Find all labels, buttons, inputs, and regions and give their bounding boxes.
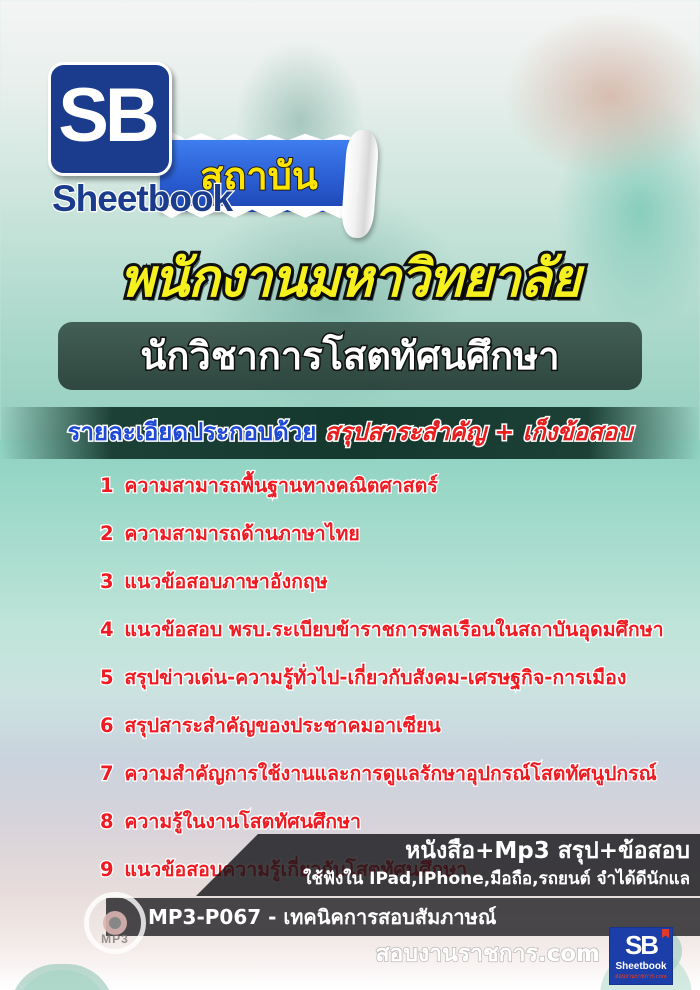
promo-headline: หนังสือ+Mp3 สรุป+ข้อสอบ: [246, 836, 690, 866]
details-line: รายละเอียดประกอบด้วย สรุปสาระสำคัญ + เก็…: [0, 412, 700, 452]
site-url[interactable]: สอบงานราชการ.com: [300, 938, 600, 970]
list-item-number: 3: [100, 570, 114, 593]
mp3-disc-icon: MP3: [78, 892, 156, 954]
list-item-number: 5: [100, 666, 114, 689]
list-item: 3 แนวข้อสอบภาษาอังกฤษ: [100, 566, 680, 597]
footer-logo-subtitle: สอบงานราชการ.com: [610, 972, 672, 982]
list-item: 2 ความสามารถด้านภาษาไทย: [100, 518, 680, 549]
poster-root: สถาบัน SB Sheetbook พนักงานมหาวิทยาลัย น…: [0, 0, 700, 990]
list-item-label: สรุปสาระสำคัญของประชาคมอาเซียน: [124, 714, 440, 737]
list-item-number: 9: [100, 858, 114, 881]
details-highlight: สรุปสาระสำคัญ + เก็งข้อสอบ: [325, 418, 633, 446]
list-item: 6 สรุปสาระสำคัญของประชาคมอาเซียน: [100, 710, 680, 741]
list-item-label: ความสามารถพื้นฐานทางคณิตศาสตร์: [124, 474, 437, 497]
list-item: 8 ความรู้ในงานโสตทัศนศึกษา: [100, 806, 680, 837]
list-item-number: 6: [100, 714, 114, 737]
list-item: 5 สรุปข่าวเด่น-ความรู้ทั่วไป-เกี่ยวกับสั…: [100, 662, 680, 693]
product-code-label: MP3-P067 - เทคนิคการสอบสัมภาษณ์: [148, 900, 496, 934]
brand-logo[interactable]: สถาบัน SB Sheetbook: [48, 62, 398, 222]
list-item-number: 7: [100, 762, 114, 785]
page-subtitle: นักวิชาการโสตทัศนศึกษา: [58, 324, 642, 388]
list-item-label: ความสำคัญการใช้งานและการดูแลรักษาอุปกรณ์…: [124, 762, 656, 785]
promo-subline: ใช้ฟังใน IPad,IPhone,มือถือ,รถยนต์ จำได้…: [216, 866, 690, 892]
list-item-number: 4: [100, 618, 114, 641]
list-item-label: สรุปข่าวเด่น-ความรู้ทั่วไป-เกี่ยวกับสังค…: [124, 666, 626, 689]
list-item: 4 แนวข้อสอบ พรบ.ระเบียบข้าราชการพลเรือนใ…: [100, 614, 680, 645]
mp3-disc-label: MP3: [78, 932, 152, 946]
list-item-label: ความรู้ในงานโสตทัศนศึกษา: [124, 810, 361, 833]
list-item-number: 8: [100, 810, 114, 833]
footer-logo-monogram: SB: [610, 930, 672, 960]
page-title: พนักงานมหาวิทยาลัย: [0, 236, 700, 319]
brand-monogram-label: SB: [48, 62, 166, 170]
list-item: 1 ความสามารถพื้นฐานทางคณิตศาสตร์: [100, 470, 680, 501]
brand-wordmark: Sheetbook: [52, 178, 232, 220]
list-item-label: ความสามารถด้านภาษาไทย: [124, 522, 359, 545]
list-item-number: 2: [100, 522, 114, 545]
list-item-label: แนวข้อสอบ พรบ.ระเบียบข้าราชการพลเรือนในส…: [124, 618, 663, 641]
details-prefix: รายละเอียดประกอบด้วย: [68, 418, 317, 446]
list-item-label: แนวข้อสอบภาษาอังกฤษ: [124, 570, 327, 593]
list-item: 7 ความสำคัญการใช้งานและการดูแลรักษาอุปกร…: [100, 758, 680, 789]
footer-brand-logo[interactable]: SB Sheetbook สอบงานราชการ.com: [609, 927, 673, 985]
list-item-number: 1: [100, 474, 114, 497]
